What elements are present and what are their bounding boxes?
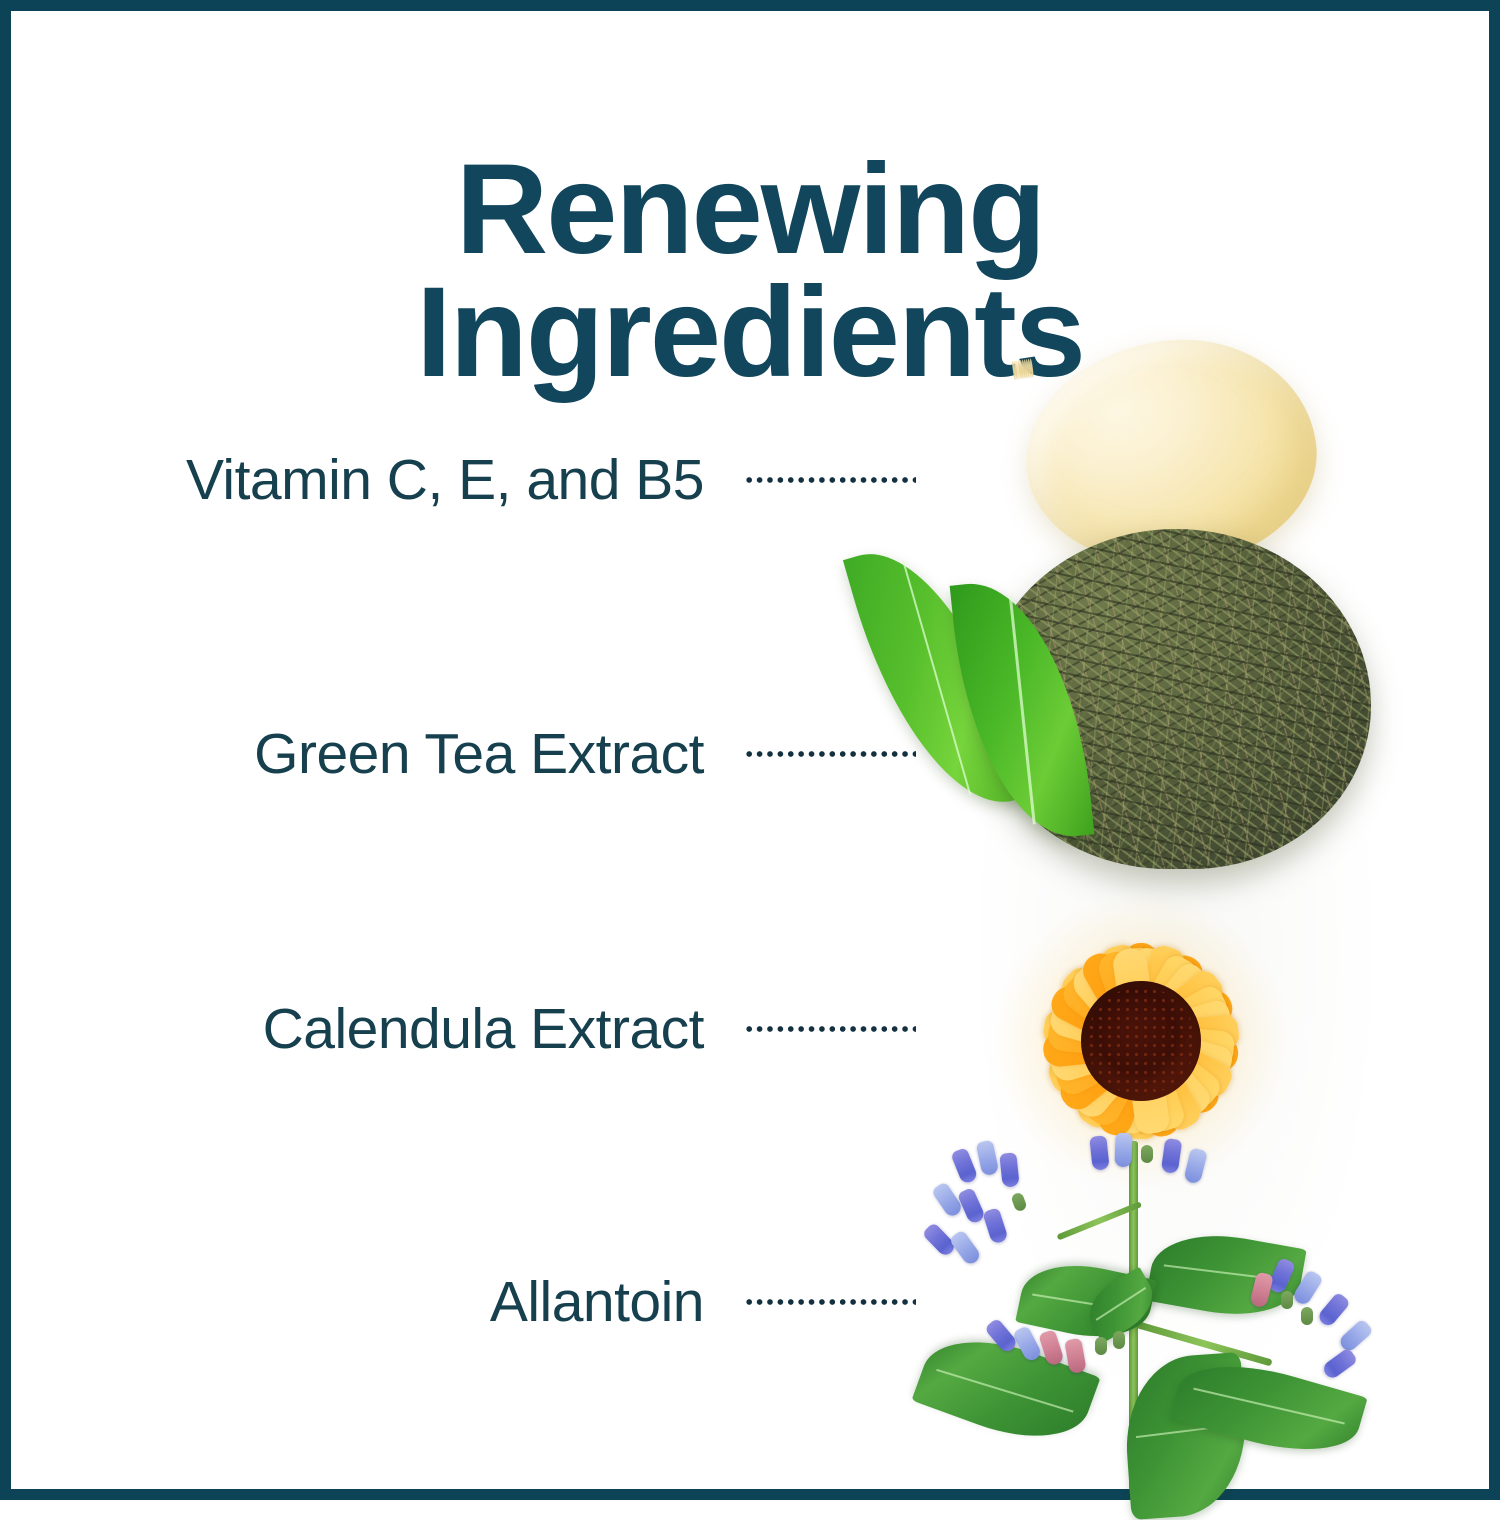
ingredient-row-vitamins: Vitamin C, E, and B5 (11, 445, 916, 515)
ingredient-row-calendula: Calendula Extract (11, 994, 916, 1064)
flower-center (1081, 981, 1201, 1101)
ingredient-label: Green Tea Extract (254, 726, 704, 783)
ingredient-label: Vitamin C, E, and B5 (186, 452, 704, 509)
ingredient-label: Allantoin (490, 1274, 704, 1331)
ingredient-list: Vitamin C, E, and B5 Green Tea Extract C… (11, 11, 931, 1511)
ingredient-label: Calendula Extract (263, 1001, 704, 1058)
ingredient-row-allantoin: Allantoin (11, 1267, 916, 1337)
leaf-vein (1009, 595, 1036, 825)
ingredient-artwork-stack (871, 311, 1491, 1501)
comfrey-plant-image (901, 1131, 1421, 1501)
ingredients-infographic: Renewing Ingredients Vitamin C, E, and B… (0, 0, 1500, 1500)
ingredient-row-green-tea: Green Tea Extract (11, 719, 916, 789)
